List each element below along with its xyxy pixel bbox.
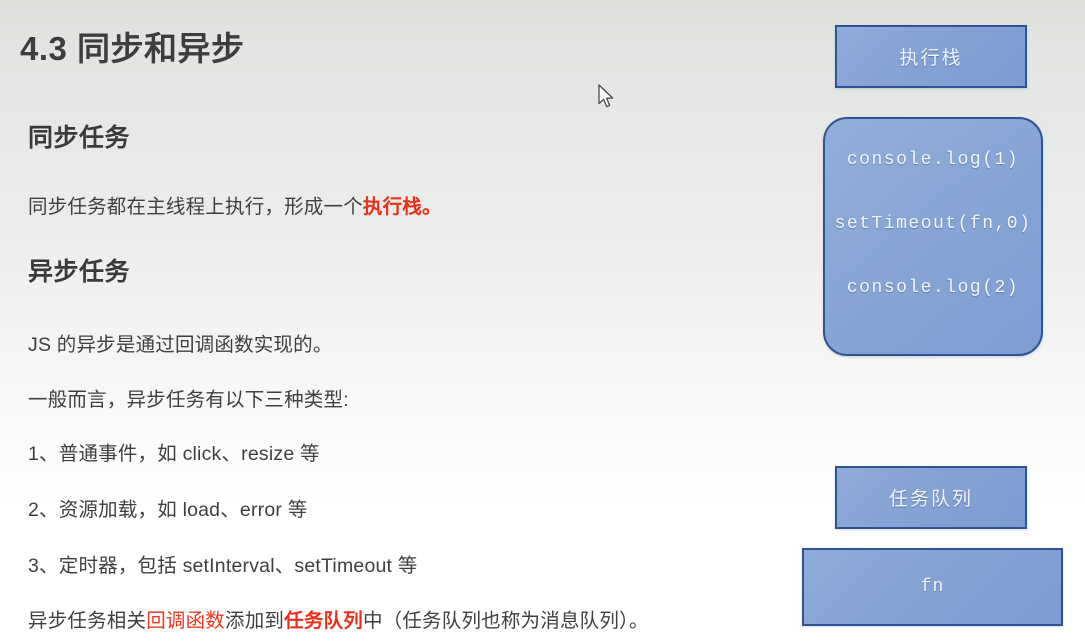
code-line: console.log(1) — [825, 151, 1041, 169]
paragraph-sync-highlight: 执行栈。 — [363, 196, 442, 218]
paragraph-async-1: JS 的异步是通过回调函数实现的。 — [28, 328, 333, 357]
article-content: 4.3 同步和异步 同步任务 同步任务都在主线程上执行，形成一个执行栈。 异步任… — [0, 0, 800, 644]
diagram-box-task-queue-label: 任务队列 — [889, 484, 973, 511]
diagram-box-fn: fn — [802, 548, 1063, 626]
section-heading-async: 异步任务 — [28, 252, 130, 288]
diagram-box-code: console.log(1) setTimeout(fn,0) console.… — [823, 117, 1043, 356]
code-line: setTimeout(fn,0) — [825, 215, 1041, 233]
paragraph-sync-text: 同步任务都在主线程上执行，形成一个 — [28, 196, 363, 218]
code-line: console.log(2) — [825, 279, 1041, 297]
code-line-list: console.log(1) setTimeout(fn,0) console.… — [825, 119, 1041, 354]
paragraph-final-part5: 中（任务队列也称为消息队列）。 — [363, 610, 649, 632]
diagram-box-task-queue: 任务队列 — [835, 466, 1027, 529]
paragraph-final-callback-highlight: 回调函数 — [146, 610, 225, 632]
section-heading-sync: 同步任务 — [28, 118, 130, 154]
paragraph-final-part1: 异步任务相关 — [28, 610, 146, 632]
diagram-box-call-stack: 执行栈 — [835, 25, 1027, 88]
diagram-box-fn-label: fn — [921, 577, 945, 597]
paragraph-final: 异步任务相关回调函数添加到任务队列中（任务队列也称为消息队列）。 — [28, 604, 649, 633]
paragraph-async-2: 一般而言，异步任务有以下三种类型: — [28, 383, 349, 412]
paragraph-sync: 同步任务都在主线程上执行，形成一个执行栈。 — [28, 190, 442, 219]
flow-diagram: 执行栈 console.log(1) setTimeout(fn,0) cons… — [790, 0, 1085, 644]
paragraph-final-part3: 添加到 — [225, 610, 284, 632]
slide-page: 4.3 同步和异步 同步任务 同步任务都在主线程上执行，形成一个执行栈。 异步任… — [0, 0, 1085, 644]
list-item: 1、普通事件，如 click、resize 等 — [28, 437, 320, 466]
page-title: 4.3 同步和异步 — [20, 22, 245, 70]
paragraph-final-taskqueue-highlight: 任务队列 — [284, 610, 363, 632]
list-item: 3、定时器，包括 setInterval、setTimeout 等 — [28, 549, 417, 578]
list-item: 2、资源加载，如 load、error 等 — [28, 493, 307, 522]
diagram-box-call-stack-label: 执行栈 — [899, 43, 962, 70]
